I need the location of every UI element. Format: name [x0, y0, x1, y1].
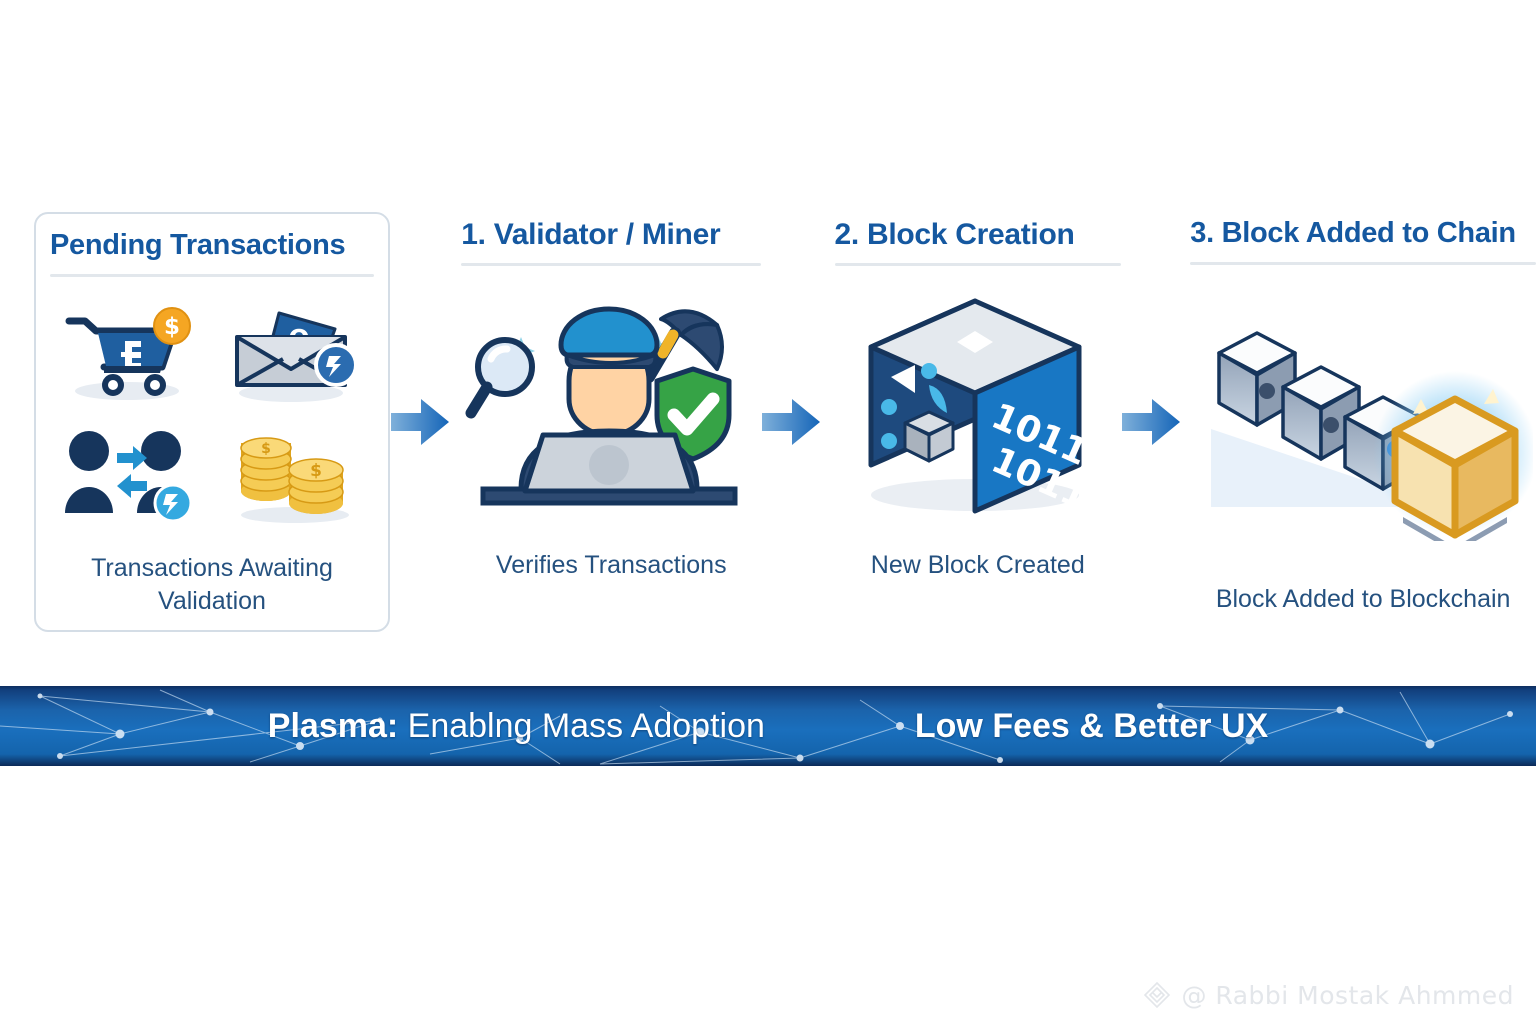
envelope-mail-icon: O [218, 302, 368, 412]
flow-arrow-3 [1121, 212, 1180, 632]
panel-title-block-creation: 2. Block Creation [835, 212, 1121, 251]
title-divider [835, 263, 1121, 266]
caption-validator: Verifies Transactions [461, 549, 761, 632]
peer-to-peer-transfer-icon [56, 420, 206, 530]
banner-right-bold: Low Fees & Better UX [915, 707, 1268, 745]
diamond-logo-icon [1142, 980, 1172, 1010]
magnifying-glass-icon [471, 340, 532, 413]
title-divider [461, 263, 761, 266]
banner-left-text: Plasma: Enablng Mass Adoption [268, 707, 765, 746]
pending-icons-art: $ O [50, 281, 374, 552]
blockchain-art [1190, 269, 1536, 583]
banner-right-text: Low Fees & Better UX [915, 707, 1268, 746]
svg-text:$: $ [310, 461, 322, 481]
validator-art [461, 270, 761, 549]
banner-left-rest: Enablng Mass Adoption [408, 707, 765, 745]
watermark-handle: @ Rabbi Mostak Ahmmed [1181, 981, 1514, 1010]
binary-cube-icon: 10110 10110 [843, 289, 1113, 529]
golden-new-block-icon [1395, 399, 1515, 535]
panel-title-pending: Pending Transactions [50, 224, 374, 262]
watermark: @ Rabbi Mostak Ahmmed [1142, 980, 1514, 1010]
caption-pending: Transactions Awaiting Validation [50, 552, 374, 623]
banner-left-bold: Plasma: [268, 707, 398, 745]
shopping-cart-icon: $ [56, 302, 206, 412]
title-divider [1190, 262, 1536, 265]
title-divider [50, 274, 374, 277]
panel-pending-transactions: Pending Transactions [34, 212, 390, 632]
block-creation-art: 10110 10110 [835, 270, 1121, 549]
caption-block-creation: New Block Created [835, 549, 1121, 632]
flow-arrow-1 [390, 212, 449, 632]
flow-arrow-2 [761, 212, 820, 632]
svg-text:$: $ [164, 314, 180, 340]
panel-validator-miner: 1. Validator / Miner [461, 212, 761, 632]
bottom-banner: Plasma: Enablng Mass Adoption Low Fees &… [0, 686, 1536, 766]
panel-title-validator: 1. Validator / Miner [461, 212, 761, 251]
panel-title-block-added: 3. Block Added to Chain [1190, 212, 1536, 250]
coin-stack-icon: $ $ [218, 420, 368, 530]
svg-text:$: $ [261, 441, 271, 457]
panel-block-added-to-chain: 3. Block Added to Chain [1190, 212, 1536, 632]
caption-block-added: Block Added to Blockchain [1190, 583, 1536, 632]
panel-block-creation: 2. Block Creation [835, 212, 1121, 632]
process-flow-row: Pending Transactions [0, 212, 1536, 642]
